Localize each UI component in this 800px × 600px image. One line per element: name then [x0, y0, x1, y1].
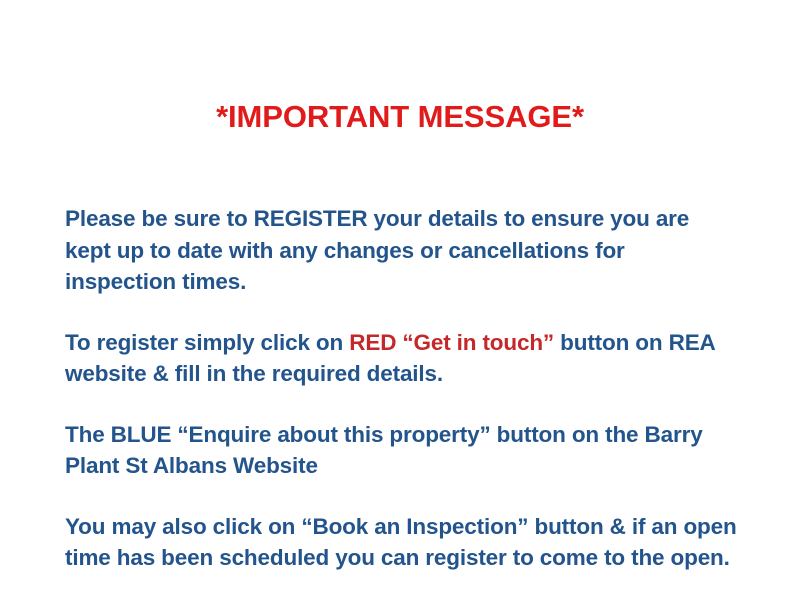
paragraph-rea-get-in-touch: To register simply click on RED “Get in … [65, 327, 737, 390]
presentation-slide: *IMPORTANT MESSAGE* Please be sure to RE… [0, 0, 800, 600]
paragraph-segment-text: To register simply click on [65, 330, 349, 355]
paragraph-segment-text: The BLUE “Enquire about this property” b… [65, 422, 703, 479]
paragraph-book-an-inspection: You may also click on “Book an Inspectio… [65, 511, 737, 574]
slide-body: Please be sure to REGISTER your details … [65, 203, 737, 574]
paragraph-barry-plant-enquire: The BLUE “Enquire about this property” b… [65, 419, 737, 482]
paragraph-segment-text: You may also click on “Book an Inspectio… [65, 514, 737, 571]
slide-title: *IMPORTANT MESSAGE* [0, 98, 800, 136]
paragraph-register-details: Please be sure to REGISTER your details … [65, 203, 737, 298]
paragraph-segment-text: Please be sure to REGISTER your details … [65, 206, 689, 294]
accent-red-get-in-touch: RED “Get in touch” [349, 330, 554, 355]
